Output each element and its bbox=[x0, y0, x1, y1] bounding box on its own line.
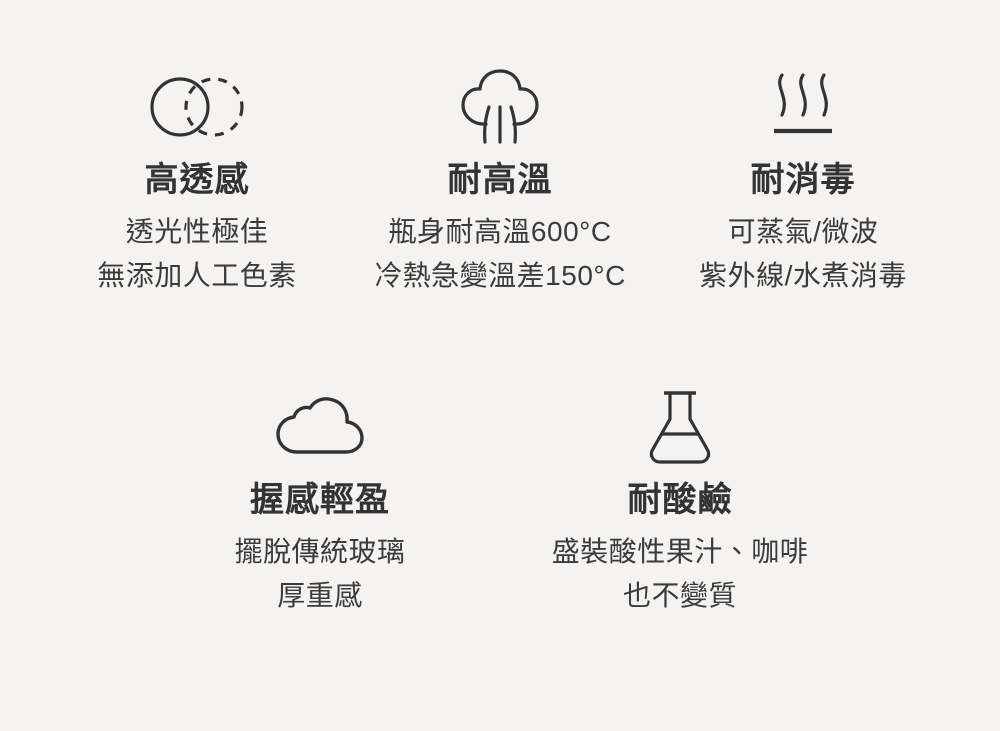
feature-row-top: 高透感 透光性極佳 無添加人工色素 耐高溫 瓶身耐高溫600°C 冷熱急變溫差1… bbox=[0, 68, 1000, 298]
feature-title: 耐高溫 bbox=[448, 160, 553, 200]
feature-title: 高透感 bbox=[145, 160, 250, 200]
feature-card-transparency: 高透感 透光性極佳 無添加人工色素 bbox=[46, 68, 349, 298]
feature-title: 耐酸鹼 bbox=[628, 480, 733, 520]
feature-desc-line: 擺脫傳統玻璃 bbox=[234, 530, 405, 574]
feature-description: 瓶身耐高溫600°C 冷熱急變溫差150°C bbox=[374, 210, 626, 298]
feature-description: 透光性極佳 無添加人工色素 bbox=[97, 210, 297, 298]
feature-row-bottom: 握感輕盈 擺脫傳統玻璃 厚重感 耐酸鹼 盛裝酸性果汁、咖啡 也不變質 bbox=[0, 388, 1000, 618]
feature-desc-line: 冷熱急變溫差150°C bbox=[374, 254, 626, 298]
features-board: 高透感 透光性極佳 無添加人工色素 耐高溫 瓶身耐高溫600°C 冷熱急變溫差1… bbox=[0, 0, 1000, 731]
feature-card-sterilization: 耐消毒 可蒸氣/微波 紫外線/水煮消毒 bbox=[652, 68, 955, 298]
feature-description: 擺脫傳統玻璃 厚重感 bbox=[234, 530, 405, 618]
feature-desc-line: 可蒸氣/微波 bbox=[699, 210, 907, 254]
feature-desc-line: 透光性極佳 bbox=[97, 210, 297, 254]
feature-desc-line: 紫外線/水煮消毒 bbox=[699, 254, 907, 298]
flask-icon bbox=[644, 388, 716, 466]
feature-desc-line: 厚重感 bbox=[234, 574, 405, 618]
feature-title: 握感輕盈 bbox=[250, 480, 390, 520]
feature-desc-line: 也不變質 bbox=[552, 574, 809, 618]
feature-title: 耐消毒 bbox=[751, 160, 856, 200]
feature-description: 盛裝酸性果汁、咖啡 也不變質 bbox=[552, 530, 809, 618]
overlapping-circles-icon bbox=[142, 68, 252, 146]
feature-card-heat-resistance: 耐高溫 瓶身耐高溫600°C 冷熱急變溫差150°C bbox=[349, 68, 652, 298]
cloud-icon bbox=[274, 388, 366, 466]
feature-desc-line: 瓶身耐高溫600°C bbox=[374, 210, 626, 254]
feature-desc-line: 無添加人工色素 bbox=[97, 254, 297, 298]
feature-card-lightweight: 握感輕盈 擺脫傳統玻璃 厚重感 bbox=[140, 388, 500, 618]
chef-hat-heat-icon bbox=[454, 68, 546, 146]
feature-desc-line: 盛裝酸性果汁、咖啡 bbox=[552, 530, 809, 574]
steam-lines-icon bbox=[762, 68, 844, 146]
feature-card-acid-alkali: 耐酸鹼 盛裝酸性果汁、咖啡 也不變質 bbox=[500, 388, 860, 618]
feature-description: 可蒸氣/微波 紫外線/水煮消毒 bbox=[699, 210, 907, 298]
